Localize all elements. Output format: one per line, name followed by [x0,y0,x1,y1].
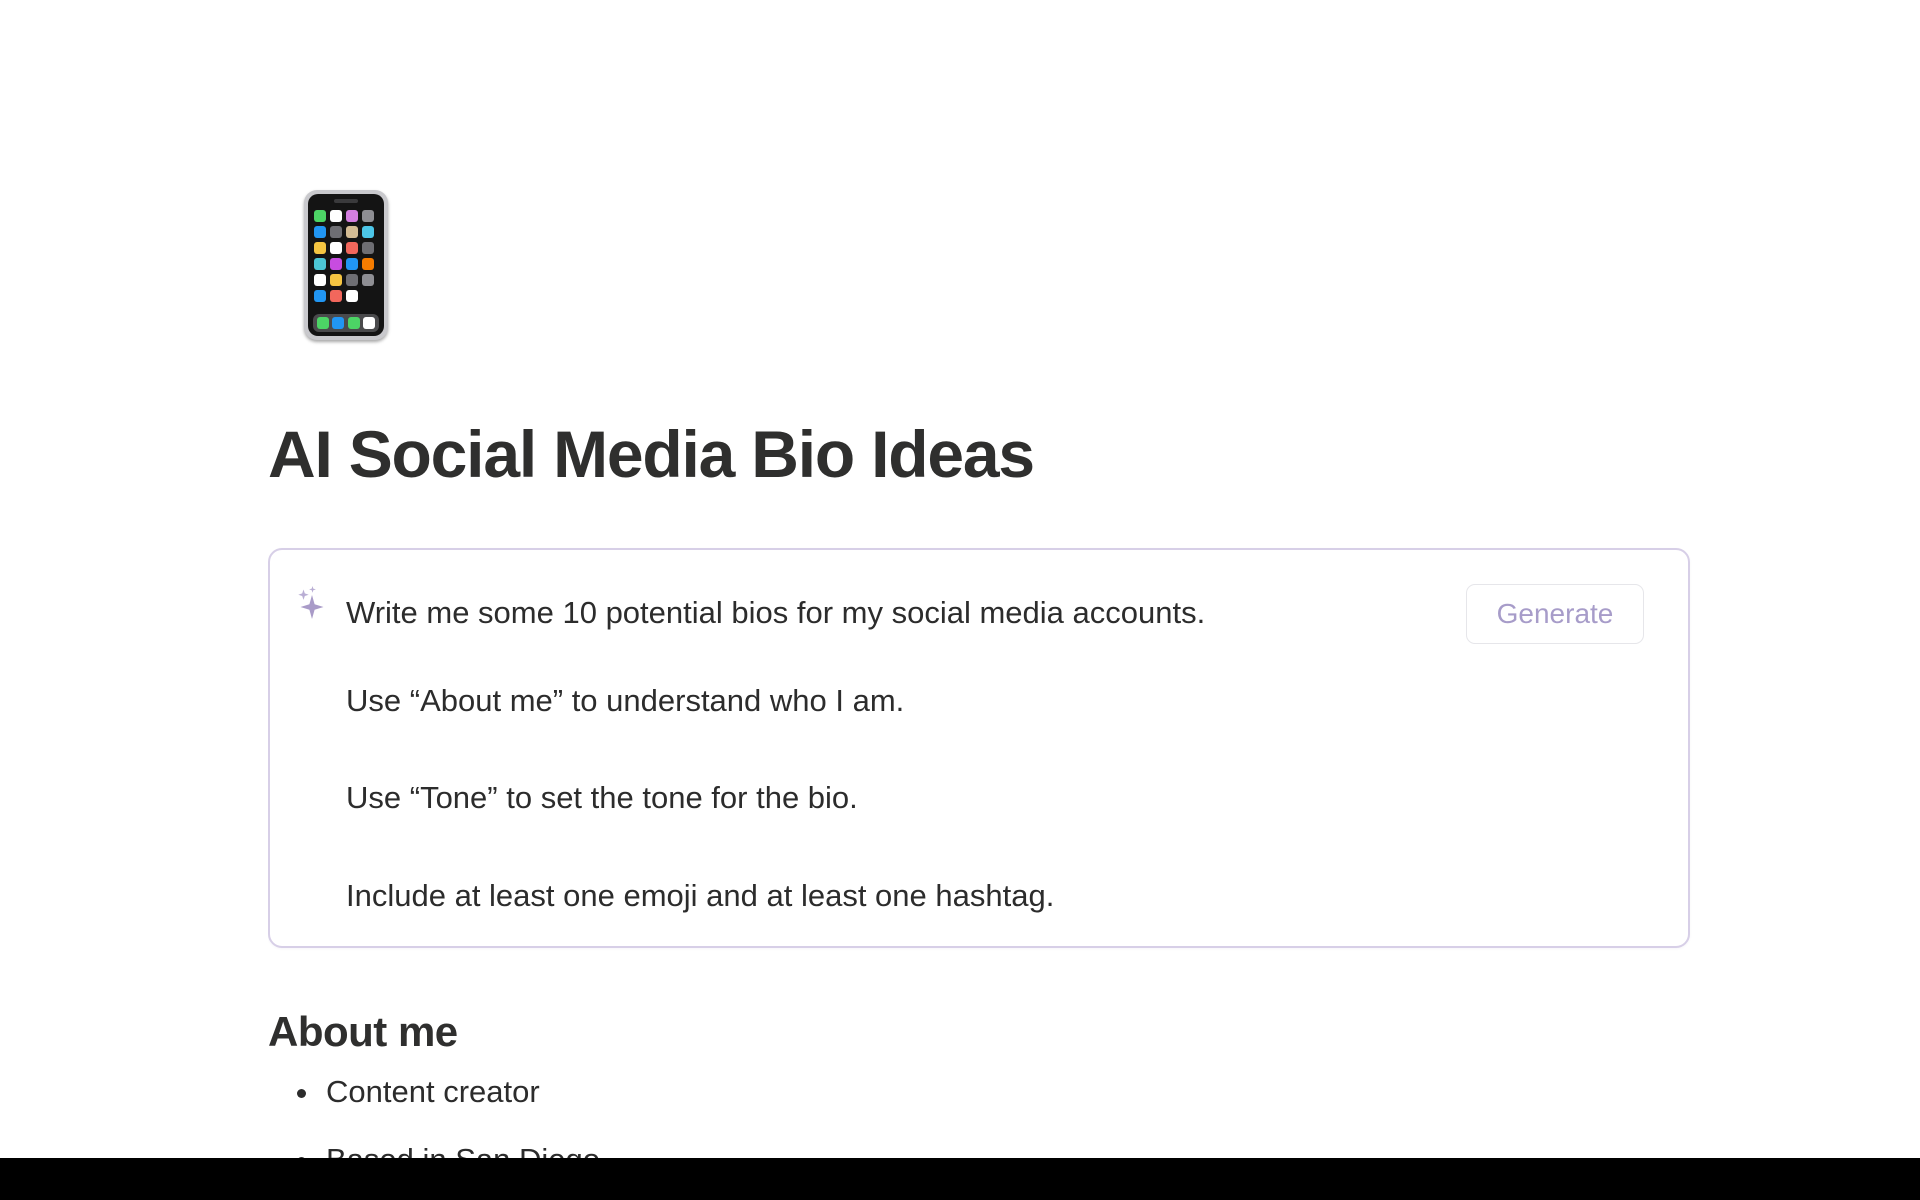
phone-screen [308,194,384,336]
phone-app-icon [314,274,326,286]
phone-app-icon [346,226,358,238]
phone-app-icon [330,290,342,302]
phone-app-icon [314,290,326,302]
prompt-instruction-1[interactable]: Use “About me” to understand who I am. [346,681,904,721]
phone-app-icon [330,210,342,222]
prompt-instruction-3[interactable]: Include at least one emoji and at least … [346,876,1054,916]
page-title: AI Social Media Bio Ideas [268,418,1034,491]
phone-app-icon [314,242,326,254]
prompt-input-text[interactable]: Write me some 10 potential bios for my s… [346,593,1205,633]
generate-button[interactable]: Generate [1466,584,1644,644]
sparkle-icon [292,584,328,620]
about-me-list: Content creator Based in San Diego [268,1072,1168,1158]
phone-app-icon [346,290,358,302]
list-item[interactable]: Based in San Diego [268,1140,1168,1158]
page-root: AI Social Media Bio Ideas Write me some … [0,0,1920,1200]
phone-app-icon [362,210,374,222]
phone-app-icon [314,258,326,270]
phone-app-icon [330,242,342,254]
prompt-row: Write me some 10 potential bios for my s… [346,584,1664,644]
content-column: AI Social Media Bio Ideas Write me some … [268,0,1698,1158]
phone-app-icon [362,242,374,254]
phone-app-icon [362,258,374,270]
phone-app-icon [346,242,358,254]
phone-app-icon [330,226,342,238]
bottom-black-bar [0,1158,1920,1200]
phone-app-icon [330,274,342,286]
mobile-phone-emoji [304,190,390,340]
phone-notch [334,199,358,203]
phone-body [304,190,388,340]
prompt-instruction-2[interactable]: Use “Tone” to set the tone for the bio. [346,778,858,818]
about-me-heading: About me [268,1008,458,1056]
phone-dock [313,314,379,332]
phone-dock-icon [317,317,329,329]
phone-app-icon [346,274,358,286]
phone-app-icon [362,226,374,238]
prompt-card: Write me some 10 potential bios for my s… [268,548,1690,948]
phone-app-icon [346,258,358,270]
phone-app-icon [362,274,374,286]
phone-app-icon [314,210,326,222]
phone-dock-icon [332,317,344,329]
list-item[interactable]: Content creator [268,1072,1168,1112]
phone-dock-icon [348,317,360,329]
phone-dock-icon [363,317,375,329]
phone-app-icon [346,210,358,222]
phone-app-icon [314,226,326,238]
phone-app-icon [330,258,342,270]
phone-app-grid [314,210,378,302]
